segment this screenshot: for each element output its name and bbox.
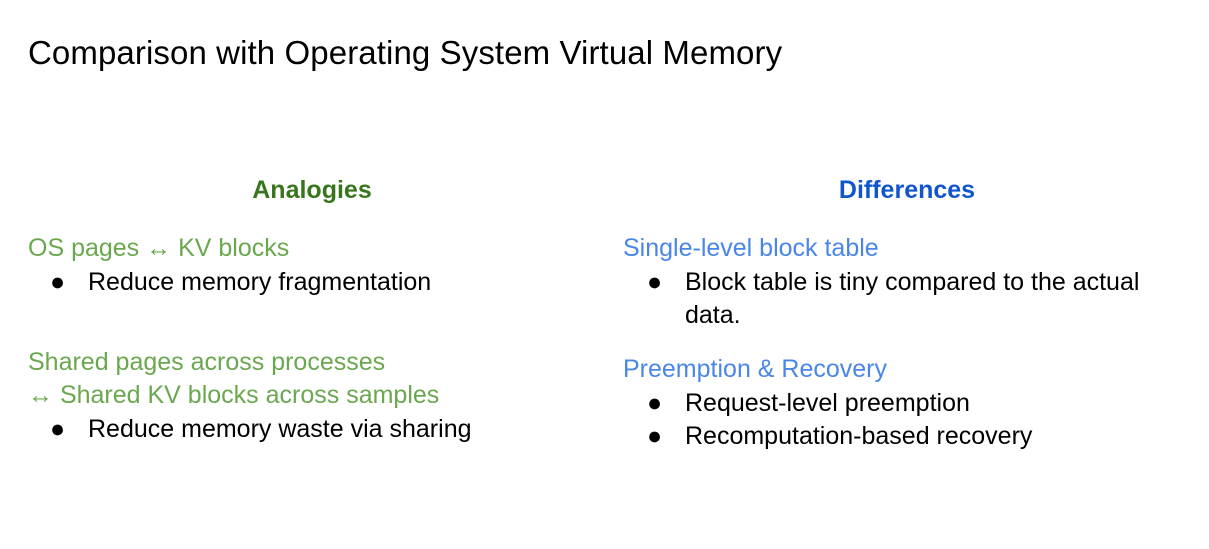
bullet-list-os-pages: ● Reduce memory fragmentation: [22, 266, 602, 299]
subheading-single-level-block-table: Single-level block table: [617, 233, 1197, 264]
bullet-list-block-table: ● Block table is tiny compared to the ac…: [617, 266, 1197, 332]
list-item: ● Reduce memory fragmentation: [22, 266, 602, 299]
list-item-label: Recomputation-based recovery: [685, 422, 1032, 450]
subheading-os-pages: OS pages ↔ KV blocks: [22, 233, 602, 264]
column-heading-analogies: Analogies: [22, 175, 602, 205]
page-title: Comparison with Operating System Virtual…: [28, 33, 782, 73]
list-item-label: Block table is tiny compared to the actu…: [685, 268, 1139, 329]
bullet-dot-icon: ●: [50, 413, 65, 446]
list-item: ● Block table is tiny compared to the ac…: [617, 266, 1197, 332]
group-shared-pages: Shared pages across processes ↔ Shared K…: [22, 347, 602, 446]
column-analogies: Analogies OS pages ↔ KV blocks ● Reduce …: [22, 175, 602, 446]
bullet-dot-icon: ●: [647, 387, 662, 420]
bullet-dot-icon: ●: [647, 420, 662, 453]
list-item: ● Reduce memory waste via sharing: [22, 413, 602, 446]
group-preemption-recovery: Preemption & Recovery ● Request-level pr…: [617, 354, 1197, 453]
column-heading-differences: Differences: [617, 175, 1197, 205]
spacer: [22, 321, 602, 347]
bullet-list-preemption-recovery: ● Request-level preemption ● Recomputati…: [617, 387, 1197, 453]
list-item: ● Request-level preemption: [617, 387, 1197, 420]
slide-canvas: Comparison with Operating System Virtual…: [0, 0, 1209, 549]
list-item-label: Request-level preemption: [685, 389, 970, 417]
group-single-level-block-table: Single-level block table ● Block table i…: [617, 233, 1197, 332]
column-differences: Differences Single-level block table ● B…: [617, 175, 1197, 453]
subheading-shared-pages-line2: ↔ Shared KV blocks across samples: [22, 380, 602, 411]
list-item-label: Reduce memory fragmentation: [88, 268, 431, 296]
bullet-dot-icon: ●: [647, 266, 662, 299]
group-os-pages: OS pages ↔ KV blocks ● Reduce memory fra…: [22, 233, 602, 299]
subheading-shared-pages-line1: Shared pages across processes: [22, 347, 602, 378]
bullet-list-shared-pages: ● Reduce memory waste via sharing: [22, 413, 602, 446]
bullet-dot-icon: ●: [50, 266, 65, 299]
subheading-preemption-recovery: Preemption & Recovery: [617, 354, 1197, 385]
list-item: ● Recomputation-based recovery: [617, 420, 1197, 453]
list-item-label: Reduce memory waste via sharing: [88, 415, 472, 443]
